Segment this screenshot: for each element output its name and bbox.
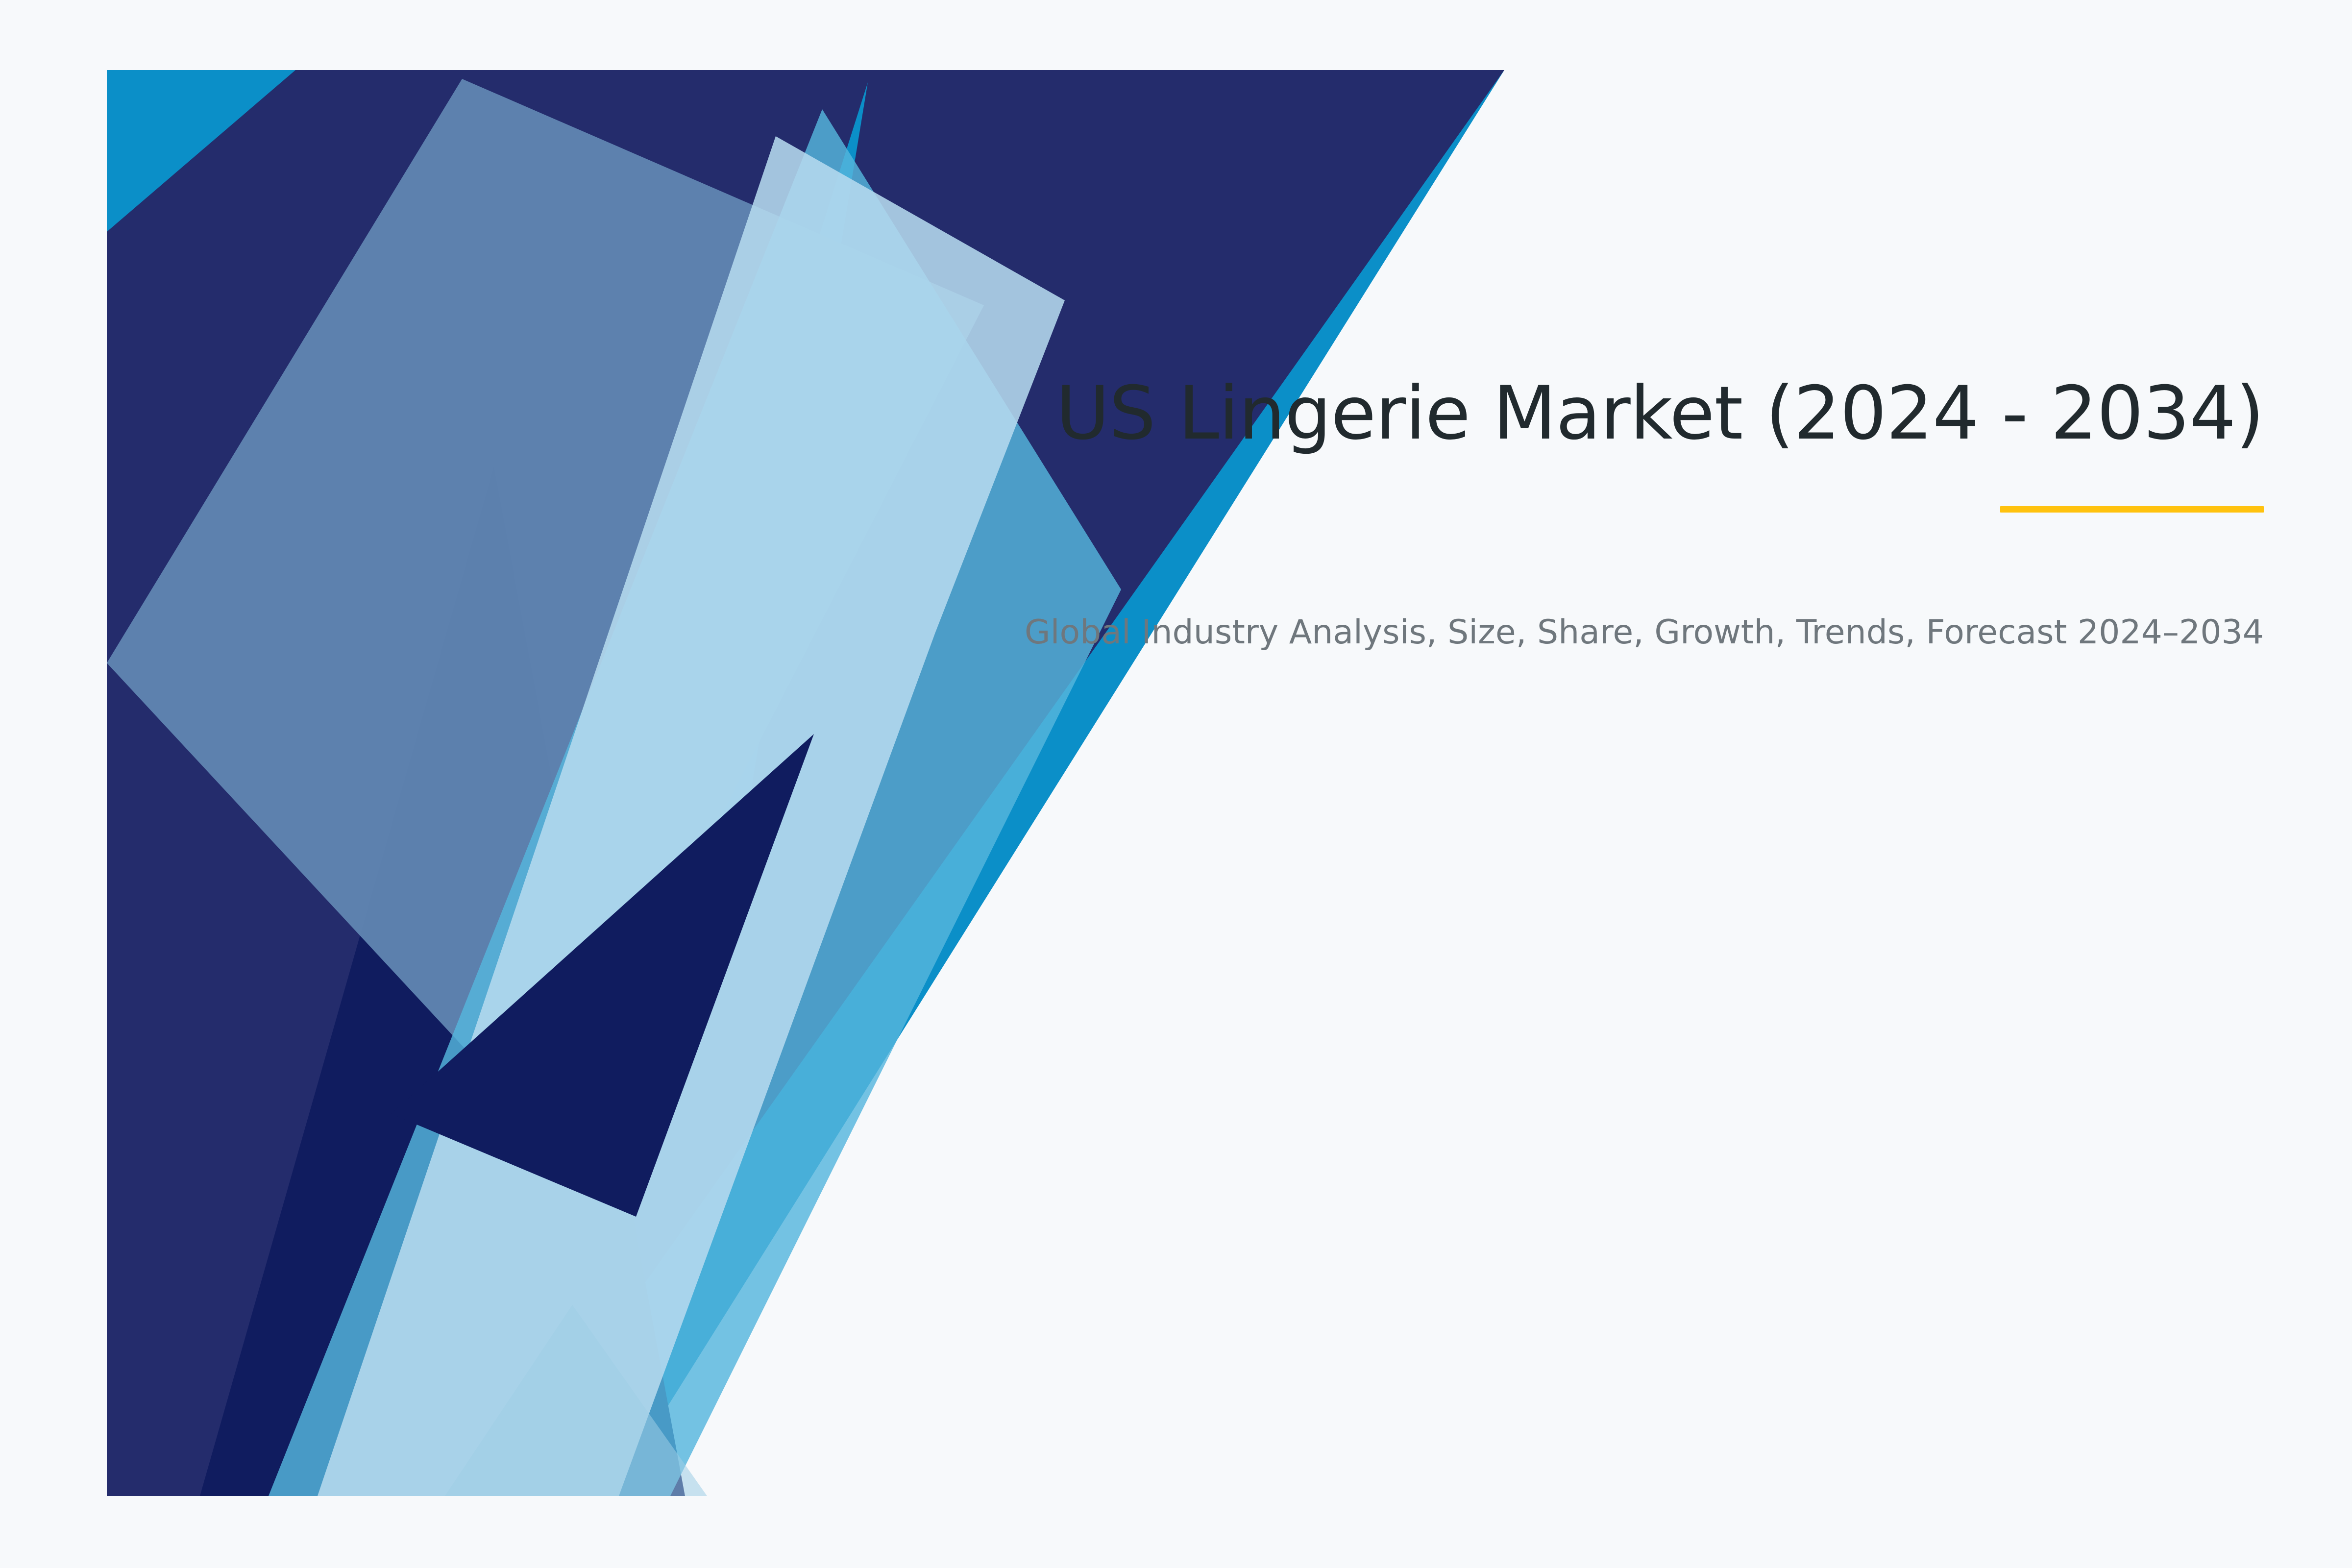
page-subtitle: Global Industry Analysis, Size, Share, G… xyxy=(1004,611,2264,655)
report-cover-slide: US Lingerie Market (2024 - 2034) Global … xyxy=(0,0,2352,1568)
abstract-geometric-graphic xyxy=(107,70,1513,1496)
cover-text-block: US Lingerie Market (2024 - 2034) Global … xyxy=(1004,372,2264,655)
accent-rule-container xyxy=(1004,506,2264,513)
page-title: US Lingerie Market (2024 - 2034) xyxy=(1004,372,2264,455)
accent-rule xyxy=(2000,506,2264,513)
cover-artwork xyxy=(107,70,1513,1496)
